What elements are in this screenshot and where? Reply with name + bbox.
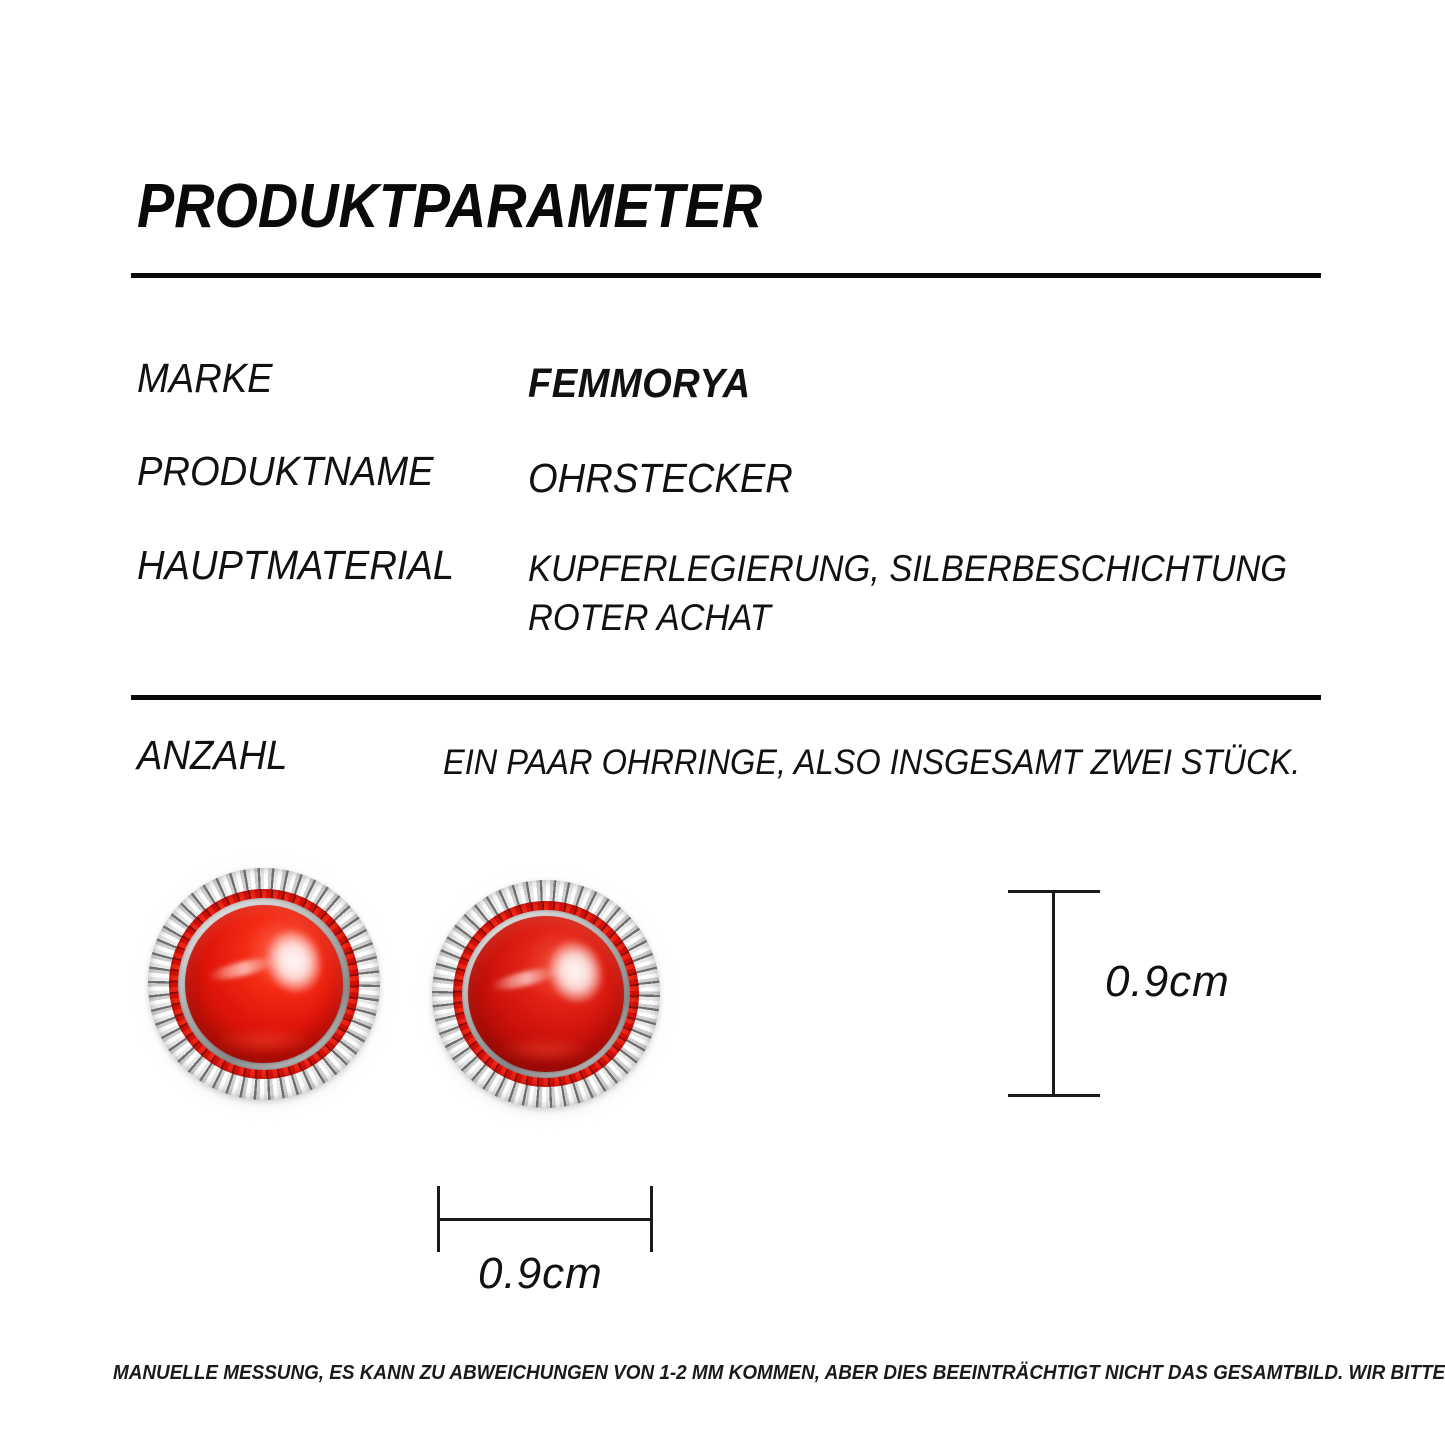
stone-specular-highlight-left xyxy=(259,924,330,1001)
earring-agate-stone-left xyxy=(185,905,343,1063)
measurement-disclaimer: MANUELLE MESSUNG, ES KANN ZU ABWEICHUNGE… xyxy=(113,1363,1445,1383)
stone-bottom-glow-right xyxy=(499,1037,592,1062)
earring-agate-stone-right xyxy=(468,916,623,1071)
width-dimension-label: 0.9cm xyxy=(478,1252,603,1296)
spec-label-anzahl: ANZAHL xyxy=(137,735,287,776)
height-dimension-label: 0.9cm xyxy=(1105,960,1230,1004)
spec-value-produktname: OHRSTECKER xyxy=(528,451,793,505)
product-photo-earring-left xyxy=(148,868,380,1100)
height-dimension-line xyxy=(1052,890,1055,1097)
spec-label-hauptmaterial: HAUPTMATERIAL xyxy=(137,545,454,586)
spec-value-anzahl: EIN PAAR OHRRINGE, ALSO INSGESAMT ZWEI S… xyxy=(443,740,1300,786)
spec-value-hauptmaterial: KUPFERLEGIERUNG, SILBERBESCHICHTUNG ROTE… xyxy=(528,545,1287,643)
product-parameter-sheet: PRODUKTPARAMETER MARKE FEMMORYA PRODUKTN… xyxy=(0,0,1445,1445)
spec-value-hauptmaterial-line-2: ROTER ACHAT xyxy=(528,594,1287,643)
product-photo-earring-right xyxy=(432,880,660,1108)
stone-bottom-glow-left xyxy=(217,1028,312,1053)
spec-label-produktname: PRODUKTNAME xyxy=(137,451,434,492)
height-dimension-cap-bottom xyxy=(1008,1094,1100,1097)
spec-value-marke: FEMMORYA xyxy=(528,356,751,410)
width-dimension-line xyxy=(437,1218,653,1221)
divider-middle xyxy=(131,695,1321,700)
spec-label-marke: MARKE xyxy=(137,358,273,399)
stone-specular-highlight-right xyxy=(541,935,610,1010)
page-title: PRODUKTPARAMETER xyxy=(137,176,762,238)
divider-top xyxy=(131,273,1321,278)
spec-value-hauptmaterial-line-1: KUPFERLEGIERUNG, SILBERBESCHICHTUNG xyxy=(528,545,1287,594)
